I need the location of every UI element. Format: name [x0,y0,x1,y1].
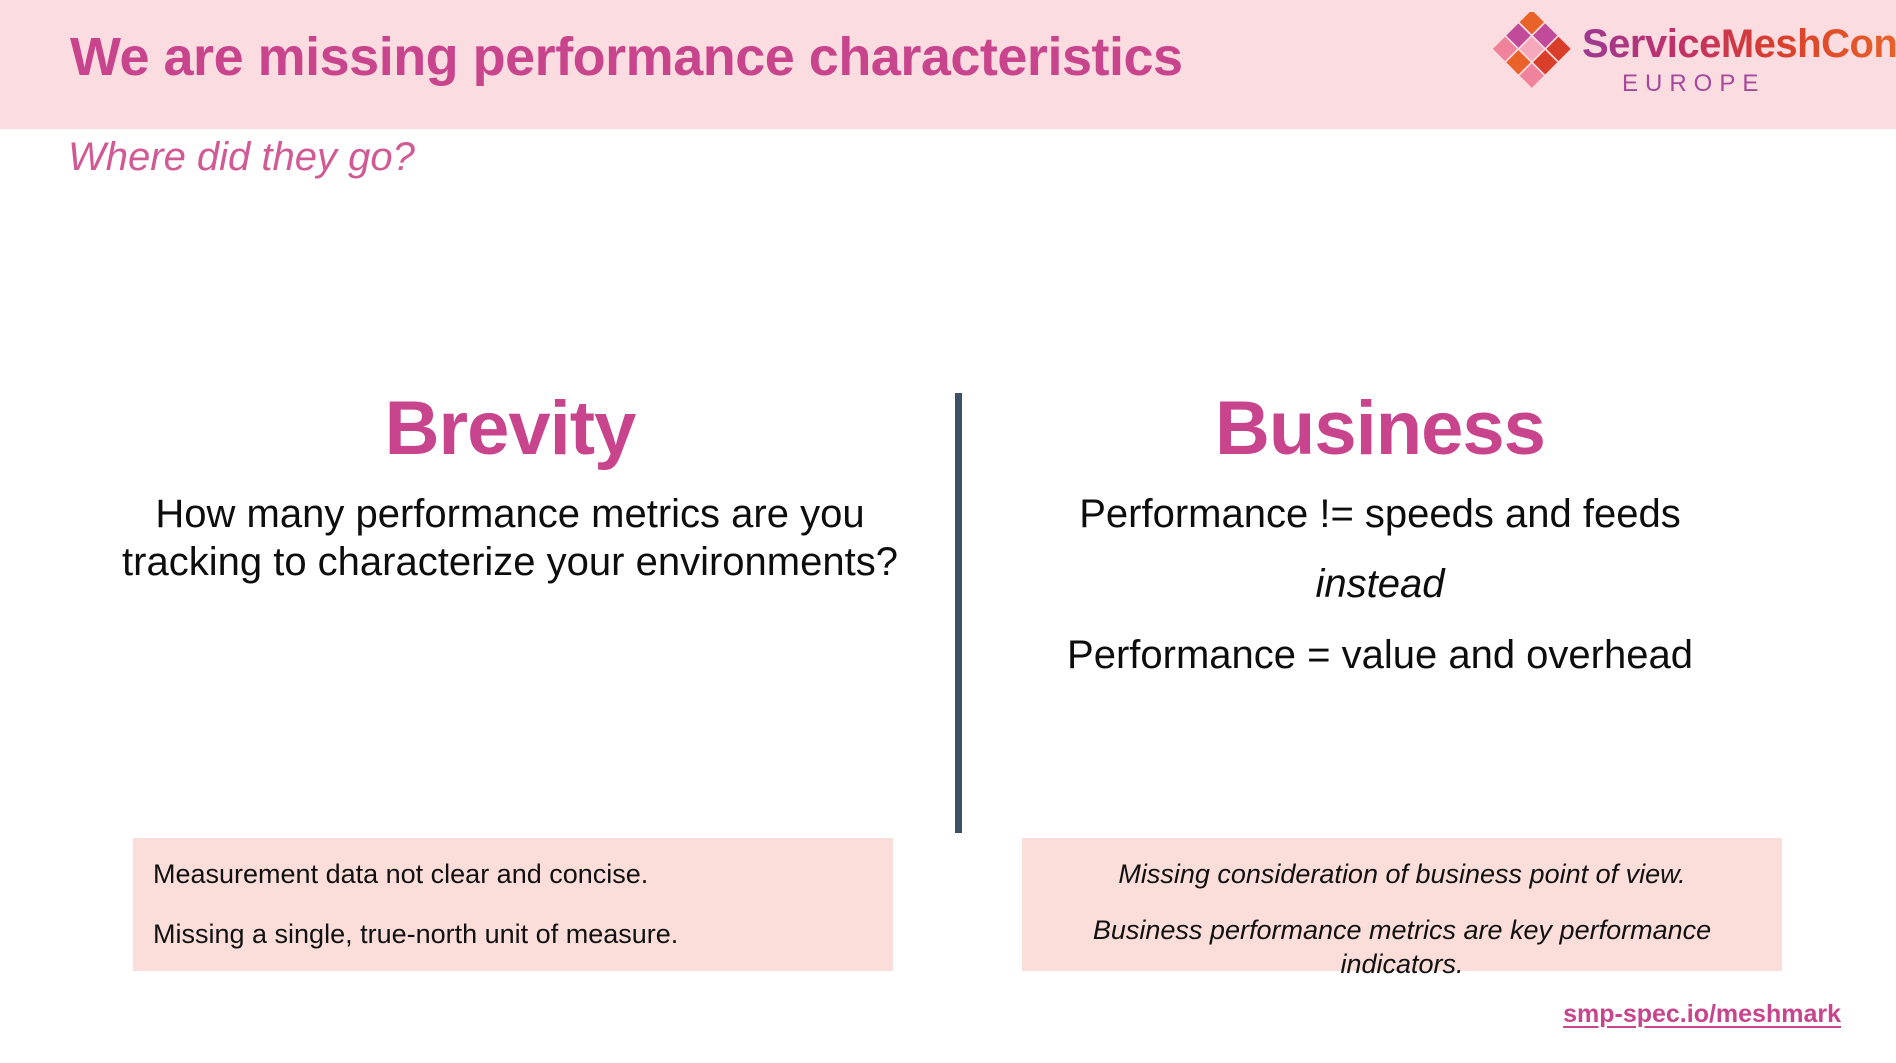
callout-line: Measurement data not clear and concise. [153,858,875,892]
spec-link[interactable]: smp-spec.io/meshmark [1563,1000,1841,1029]
slide-subtitle: Where did they go? [68,135,415,180]
callout-box-brevity: Measurement data not clear and concise. … [133,838,893,971]
servicemeshcon-diamond-mark [1490,12,1576,98]
slide: We are missing performance characteristi… [0,0,1896,1063]
column-heading-business: Business [985,390,1775,468]
callout-line: Business performance metrics are key per… [1040,914,1764,982]
body-line: Performance = value and overhead [985,631,1775,680]
column-business: Business Performance != speeds and feeds… [985,390,1775,680]
page-title: We are missing performance characteristi… [70,26,1183,88]
logo-region-label: EUROPE [1622,70,1765,98]
body-line: How many performance metrics are you tra… [115,490,905,588]
column-body-business: Performance != speeds and feeds instead … [985,490,1775,680]
column-divider [955,393,962,833]
column-body-brevity: How many performance metrics are you tra… [115,490,905,588]
body-line: Performance != speeds and feeds [985,490,1775,539]
brand-logo: ServiceMeshCon EUROPE [1478,8,1878,120]
callout-line: Missing consideration of business point … [1040,858,1764,892]
logo-wordmark: ServiceMeshCon [1582,22,1896,67]
callout-line: Missing a single, true-north unit of mea… [153,918,875,952]
callout-box-business: Missing consideration of business point … [1022,838,1782,971]
column-heading-brevity: Brevity [115,390,905,468]
column-brevity: Brevity How many performance metrics are… [115,390,905,587]
body-line-emphasis: instead [985,560,1775,609]
